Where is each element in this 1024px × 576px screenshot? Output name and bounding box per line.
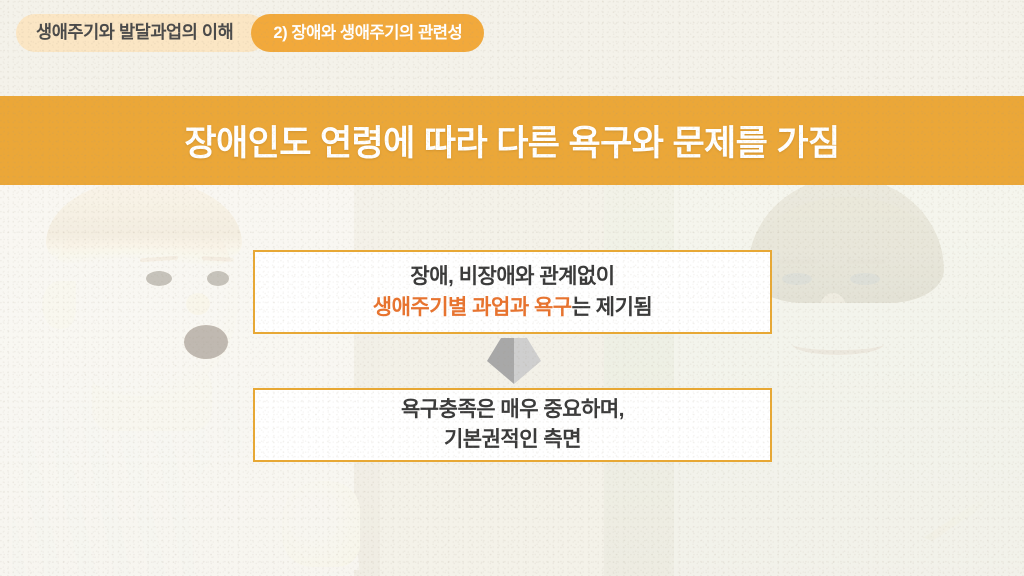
photo-left-ear <box>42 281 76 329</box>
photo-right-brow-left <box>778 259 818 264</box>
page-title: 장애인도 연령에 따라 다른 욕구와 문제를 가짐 <box>184 115 839 166</box>
photo-right-eye-right <box>850 273 880 285</box>
down-arrow-icon <box>487 338 541 384</box>
breadcrumb: 생애주기와 발달과업의 이해 2) 장애와 생애주기의 관련성 <box>16 14 484 52</box>
callout-top-line-1: 장애, 비장애와 관계없이 <box>410 262 614 292</box>
photo-left-mouth <box>184 325 228 359</box>
photo-left-eye-right <box>207 271 229 286</box>
breadcrumb-item-primary[interactable]: 생애주기와 발달과업의 이해 <box>16 14 267 52</box>
photo-right-youth <box>674 185 1024 576</box>
photo-left-cheek <box>114 325 184 381</box>
photo-right-nose <box>820 293 846 323</box>
callout-top-highlight: 생애주기별 과업과 욕구 <box>373 296 572 319</box>
header-strip: 생애주기와 발달과업의 이해 2) 장애와 생애주기의 관련성 <box>0 0 1024 96</box>
callout-top-line-2: 생애주기별 과업과 욕구는 제기됨 <box>373 293 653 323</box>
photo-left-nose <box>186 293 210 315</box>
photo-right-smile <box>792 333 884 355</box>
callout-bottom-line-2: 기본권적인 측면 <box>444 425 581 455</box>
callout-bottom-line-1: 욕구충족은 매우 중요하며, <box>401 395 624 425</box>
photo-left-eye-left <box>146 271 172 286</box>
callout-box-top: 장애, 비장애와 관계없이 생애주기별 과업과 욕구는 제기됨 <box>253 250 772 334</box>
title-banner: 장애인도 연령에 따라 다른 욕구와 문제를 가짐 <box>0 96 1024 185</box>
photo-right-brow-right <box>846 259 886 264</box>
callout-top-line-2-rest: 는 제기됨 <box>572 296 653 319</box>
photo-right-eye-left <box>782 273 812 285</box>
photo-right-table <box>674 557 1024 576</box>
callout-box-bottom: 욕구충족은 매우 중요하며, 기본권적인 측면 <box>253 388 772 462</box>
photo-left-child <box>0 185 354 576</box>
photo-right-hand <box>850 537 946 576</box>
breadcrumb-item-secondary[interactable]: 2) 장애와 생애주기의 관련성 <box>251 14 484 52</box>
photo-left-hand <box>282 481 360 567</box>
slide-root: 생애주기와 발달과업의 이해 2) 장애와 생애주기의 관련성 장애인도 연령에… <box>0 0 1024 576</box>
